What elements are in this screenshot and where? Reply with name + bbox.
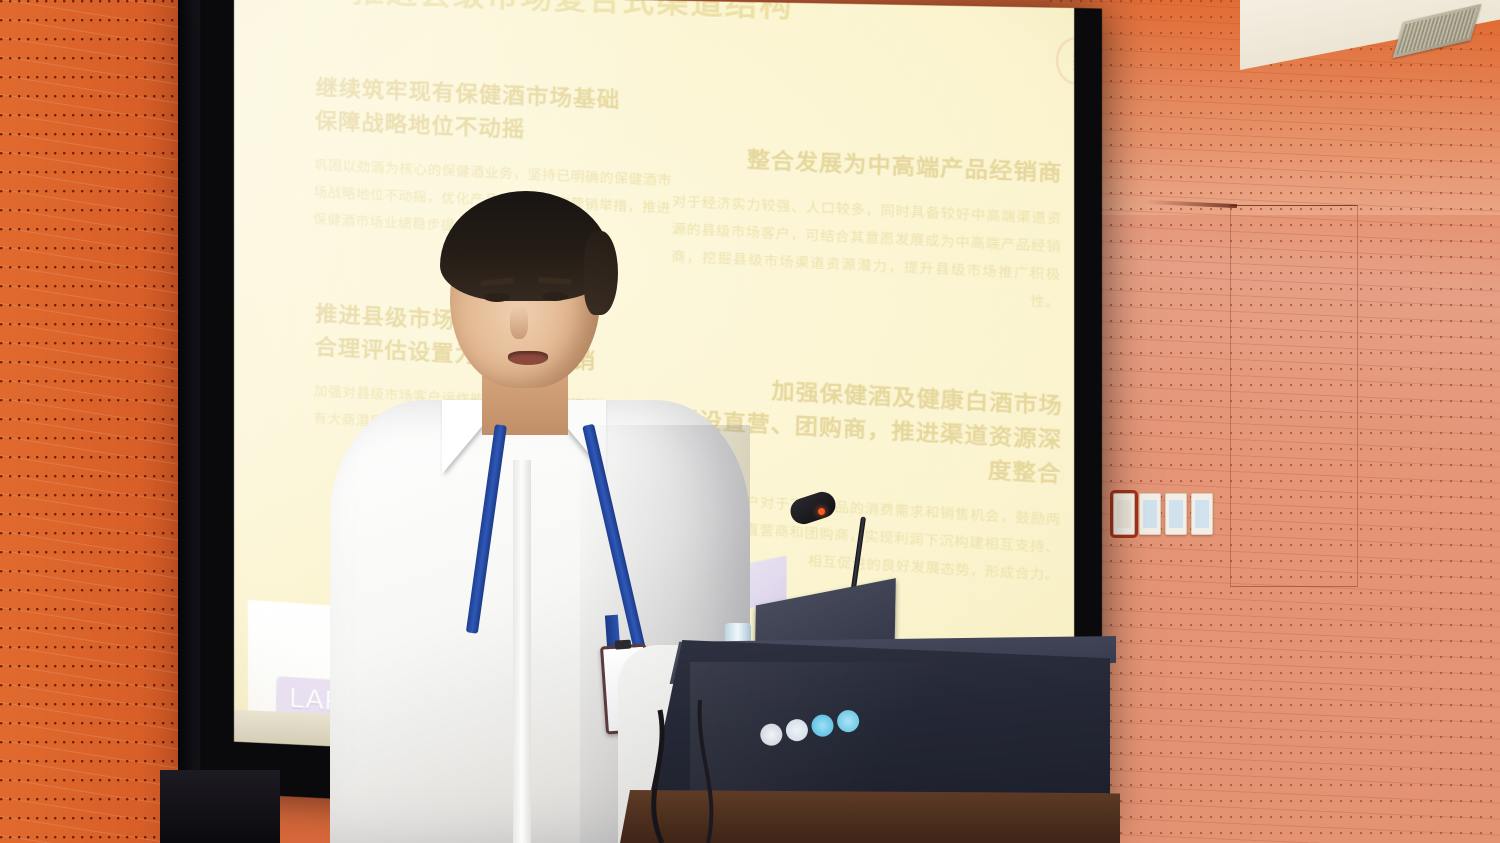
wall-switch-4[interactable] [1191,493,1213,535]
wall-switch-panel[interactable] [1113,493,1213,535]
slide-title: 推进县级市场复合式渠道结构 [352,0,974,33]
wall-switch-2[interactable] [1139,493,1161,535]
floor-shadow [160,770,280,843]
brand-logo-icon: 劲酒 [1056,37,1074,85]
speaker-nose [510,305,528,339]
presentation-photo-scene: 推进县级市场复合式渠道结构 劲酒 继续筑牢现有保健酒市场基础 保障战略地位不动摇… [0,0,1500,843]
wall-switch-1[interactable] [1113,493,1135,535]
speaker-eye-left [484,293,510,302]
wall-door-outline [1230,205,1358,587]
shirt-placket [513,460,531,843]
speaker-mouth [508,351,548,365]
wall-switch-3[interactable] [1165,493,1187,535]
podium-button-3[interactable] [810,713,835,738]
podium-button-4[interactable] [835,708,860,733]
speaker-hair [440,191,612,301]
microphone-led-indicator [818,508,825,515]
podium-base [620,790,1120,843]
podium-button-1[interactable] [759,722,784,747]
podium-button-2[interactable] [784,717,809,742]
podium-highlight [690,662,1070,812]
speaker-eye-right [542,292,568,301]
